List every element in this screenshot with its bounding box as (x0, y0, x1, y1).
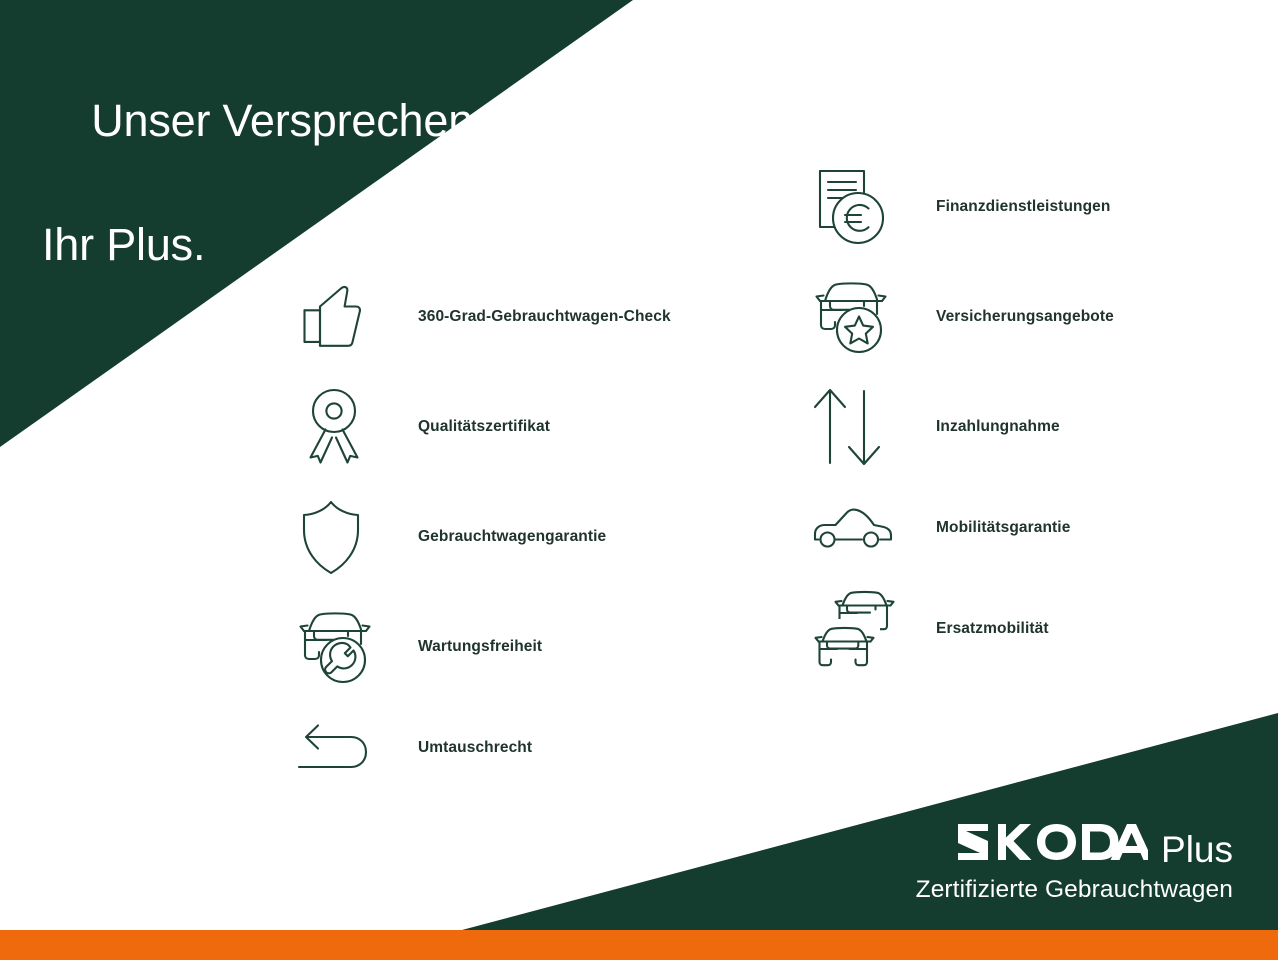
feature-item-quality: Qualitätszertifikat (296, 372, 671, 482)
skoda-wordmark-icon (952, 822, 1148, 867)
feature-label: Ersatzmobilität (936, 620, 1049, 638)
feature-label: Gebrauchtwagengarantie (418, 528, 606, 546)
up-down-arrows-icon (812, 384, 898, 470)
brand-lockup: Plus Zertifizierte Gebrauchtwagen (916, 822, 1233, 904)
feature-label: Umtauschrecht (418, 739, 532, 757)
feature-label: Wartungsfreiheit (418, 638, 542, 656)
brand-subtitle: Zertifizierte Gebrauchtwagen (916, 877, 1233, 904)
feature-label: 360-Grad-Gebrauchtwagen-Check (418, 308, 671, 326)
feature-item-return: Umtauschrecht (296, 702, 671, 794)
feature-label: Versicherungsangebote (936, 308, 1114, 326)
two-cars-icon (812, 586, 898, 672)
feature-item-check: 360-Grad-Gebrauchtwagen-Check (296, 262, 671, 372)
car-wrench-icon (296, 604, 382, 690)
brand-row: Plus (916, 822, 1233, 868)
shield-icon (296, 494, 382, 580)
feature-item-financing: Finanzdienstleistungen (812, 152, 1114, 262)
feature-list-right: Finanzdienstleistungen Versich (812, 152, 1114, 684)
feature-list-left: 360-Grad-Gebrauchtwagen-Check Qualitätsz… (296, 262, 671, 794)
feature-label: Inzahlungnahme (936, 418, 1060, 436)
feature-label: Mobilitätsgarantie (936, 519, 1070, 537)
headline-line-1: Unser Versprechen. (91, 95, 485, 146)
feature-item-tradein: Inzahlungnahme (812, 372, 1114, 482)
feature-item-replacement: Ersatzmobilität (812, 574, 1114, 684)
car-star-icon (812, 274, 898, 360)
feature-item-mobility: Mobilitätsgarantie (812, 482, 1114, 574)
thumbs-up-icon (296, 274, 382, 360)
promo-banner: Unser Versprechen. Ihr Plus. 360-Grad-Ge… (0, 0, 1278, 960)
bottom-orange-bar (0, 930, 1278, 960)
feature-label: Finanzdienstleistungen (936, 198, 1110, 216)
award-rosette-icon (296, 384, 382, 470)
car-side-icon (812, 485, 898, 571)
feature-item-maintenance: Wartungsfreiheit (296, 592, 671, 702)
brand-plus-label: Plus (1161, 831, 1233, 868)
return-arrow-icon (296, 705, 382, 791)
document-euro-icon (812, 164, 898, 250)
feature-item-warranty: Gebrauchtwagengarantie (296, 482, 671, 592)
feature-item-insurance: Versicherungsangebote (812, 262, 1114, 372)
feature-label: Qualitätszertifikat (418, 418, 550, 436)
